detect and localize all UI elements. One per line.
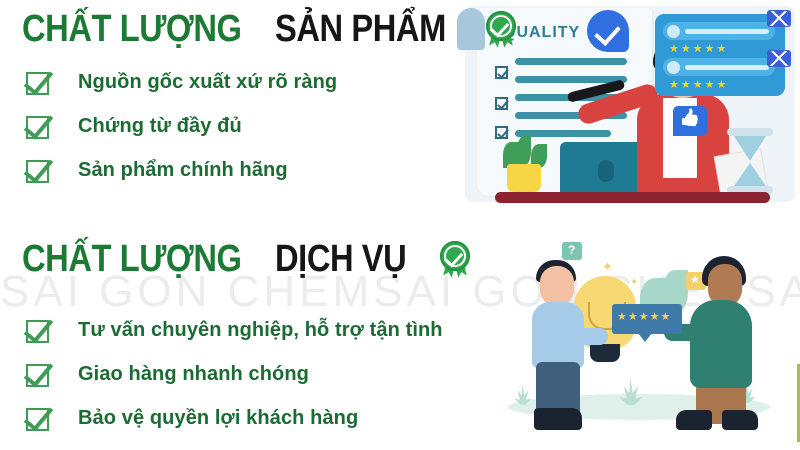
review-text-bar	[685, 65, 769, 70]
list-item-label: Sản phẩm chính hãng	[78, 159, 288, 182]
potted-plant-icon	[517, 136, 531, 166]
list-item: Tư vấn chuyên nghiệp, hỗ trợ tận tình	[0, 308, 470, 352]
person-boot	[534, 408, 582, 430]
list-item: Sản phẩm chính hãng	[0, 148, 470, 192]
review-text-bar	[685, 29, 769, 34]
list-item: Bảo vệ quyền lợi khách hàng	[0, 396, 470, 440]
service-quality-list: Tư vấn chuyên nghiệp, hỗ trợ tận tình Gi…	[0, 308, 470, 440]
list-item-label: Nguồn gốc xuất xứ rõ ràng	[78, 71, 337, 94]
list-item-label: Tư vấn chuyên nghiệp, hỗ trợ tận tình	[78, 319, 443, 342]
poster-checkbox-icon	[495, 97, 508, 110]
hourglass-icon	[727, 128, 773, 194]
quality-rosette-icon	[484, 11, 518, 47]
checkbox-checked-icon	[26, 362, 51, 387]
person-head	[540, 266, 574, 306]
list-item-label: Chứng từ đầy đủ	[78, 115, 242, 138]
section-heading-product-quality: CHẤT LƯỢNG SẢN PHẨM	[22, 10, 518, 48]
section-heading-service-quality: CHẤT LƯỢNG DỊCH VỤ	[22, 240, 472, 278]
person-boot	[676, 410, 712, 430]
rating-card-stars: ★★★★★	[617, 312, 671, 323]
service-rating-illustration: ✦ ✦ ★★★★★	[490, 236, 800, 448]
person-boot	[722, 410, 758, 430]
checkbox-checked-icon	[26, 158, 51, 183]
list-item: Nguồn gốc xuất xứ rõ ràng	[0, 60, 470, 104]
poster-line	[515, 58, 627, 65]
avatar	[667, 61, 680, 74]
rating-card: ★★★★★	[612, 304, 682, 334]
sparkle-icon: ✦	[630, 276, 638, 289]
list-item: Chứng từ đầy đủ	[0, 104, 470, 148]
review-row	[663, 58, 775, 76]
review-row	[663, 22, 775, 40]
verified-check-icon	[587, 10, 629, 52]
heading-black-text: SẢN PHẨM	[275, 10, 446, 48]
list-item-label: Giao hàng nhanh chóng	[78, 363, 309, 386]
product-quality-list: Nguồn gốc xuất xứ rõ ràng Chứng từ đầy đ…	[0, 60, 470, 192]
checkbox-checked-icon	[26, 406, 51, 431]
plant-pot	[507, 164, 541, 192]
checkbox-checked-icon	[26, 318, 51, 343]
heading-green-text: CHẤT LƯỢNG	[22, 10, 242, 48]
review-stars: ★★★★★	[669, 44, 728, 55]
list-item: Giao hàng nhanh chóng	[0, 352, 470, 396]
review-card-panel: ★★★★★ ★★★★★	[655, 14, 785, 96]
desk-bar	[495, 192, 770, 203]
envelope-icon	[767, 50, 791, 67]
avatar	[667, 25, 680, 38]
sparkle-icon: ✦	[602, 260, 613, 273]
person-body	[690, 300, 752, 388]
thumbs-up-icon	[673, 106, 707, 136]
heading-green-text: CHẤT LƯỢNG	[22, 240, 242, 278]
list-item-label: Bảo vệ quyền lợi khách hàng	[78, 407, 358, 430]
poster-checkbox-icon	[495, 66, 508, 79]
bulb-base	[590, 344, 620, 362]
quality-rosette-icon	[438, 241, 472, 277]
checkbox-checked-icon	[26, 70, 51, 95]
heading-black-text: DỊCH VỤ	[275, 240, 406, 278]
envelope-icon	[767, 10, 791, 27]
review-stars: ★★★★★	[669, 80, 728, 91]
poster-checkbox-icon	[495, 126, 508, 139]
promo-banner: SAI GON CHEM SAI GON CHEM SAI GON CHEM C…	[0, 0, 800, 450]
checkbox-checked-icon	[26, 114, 51, 139]
question-bubble-icon	[562, 242, 582, 260]
person-arm	[566, 328, 608, 345]
